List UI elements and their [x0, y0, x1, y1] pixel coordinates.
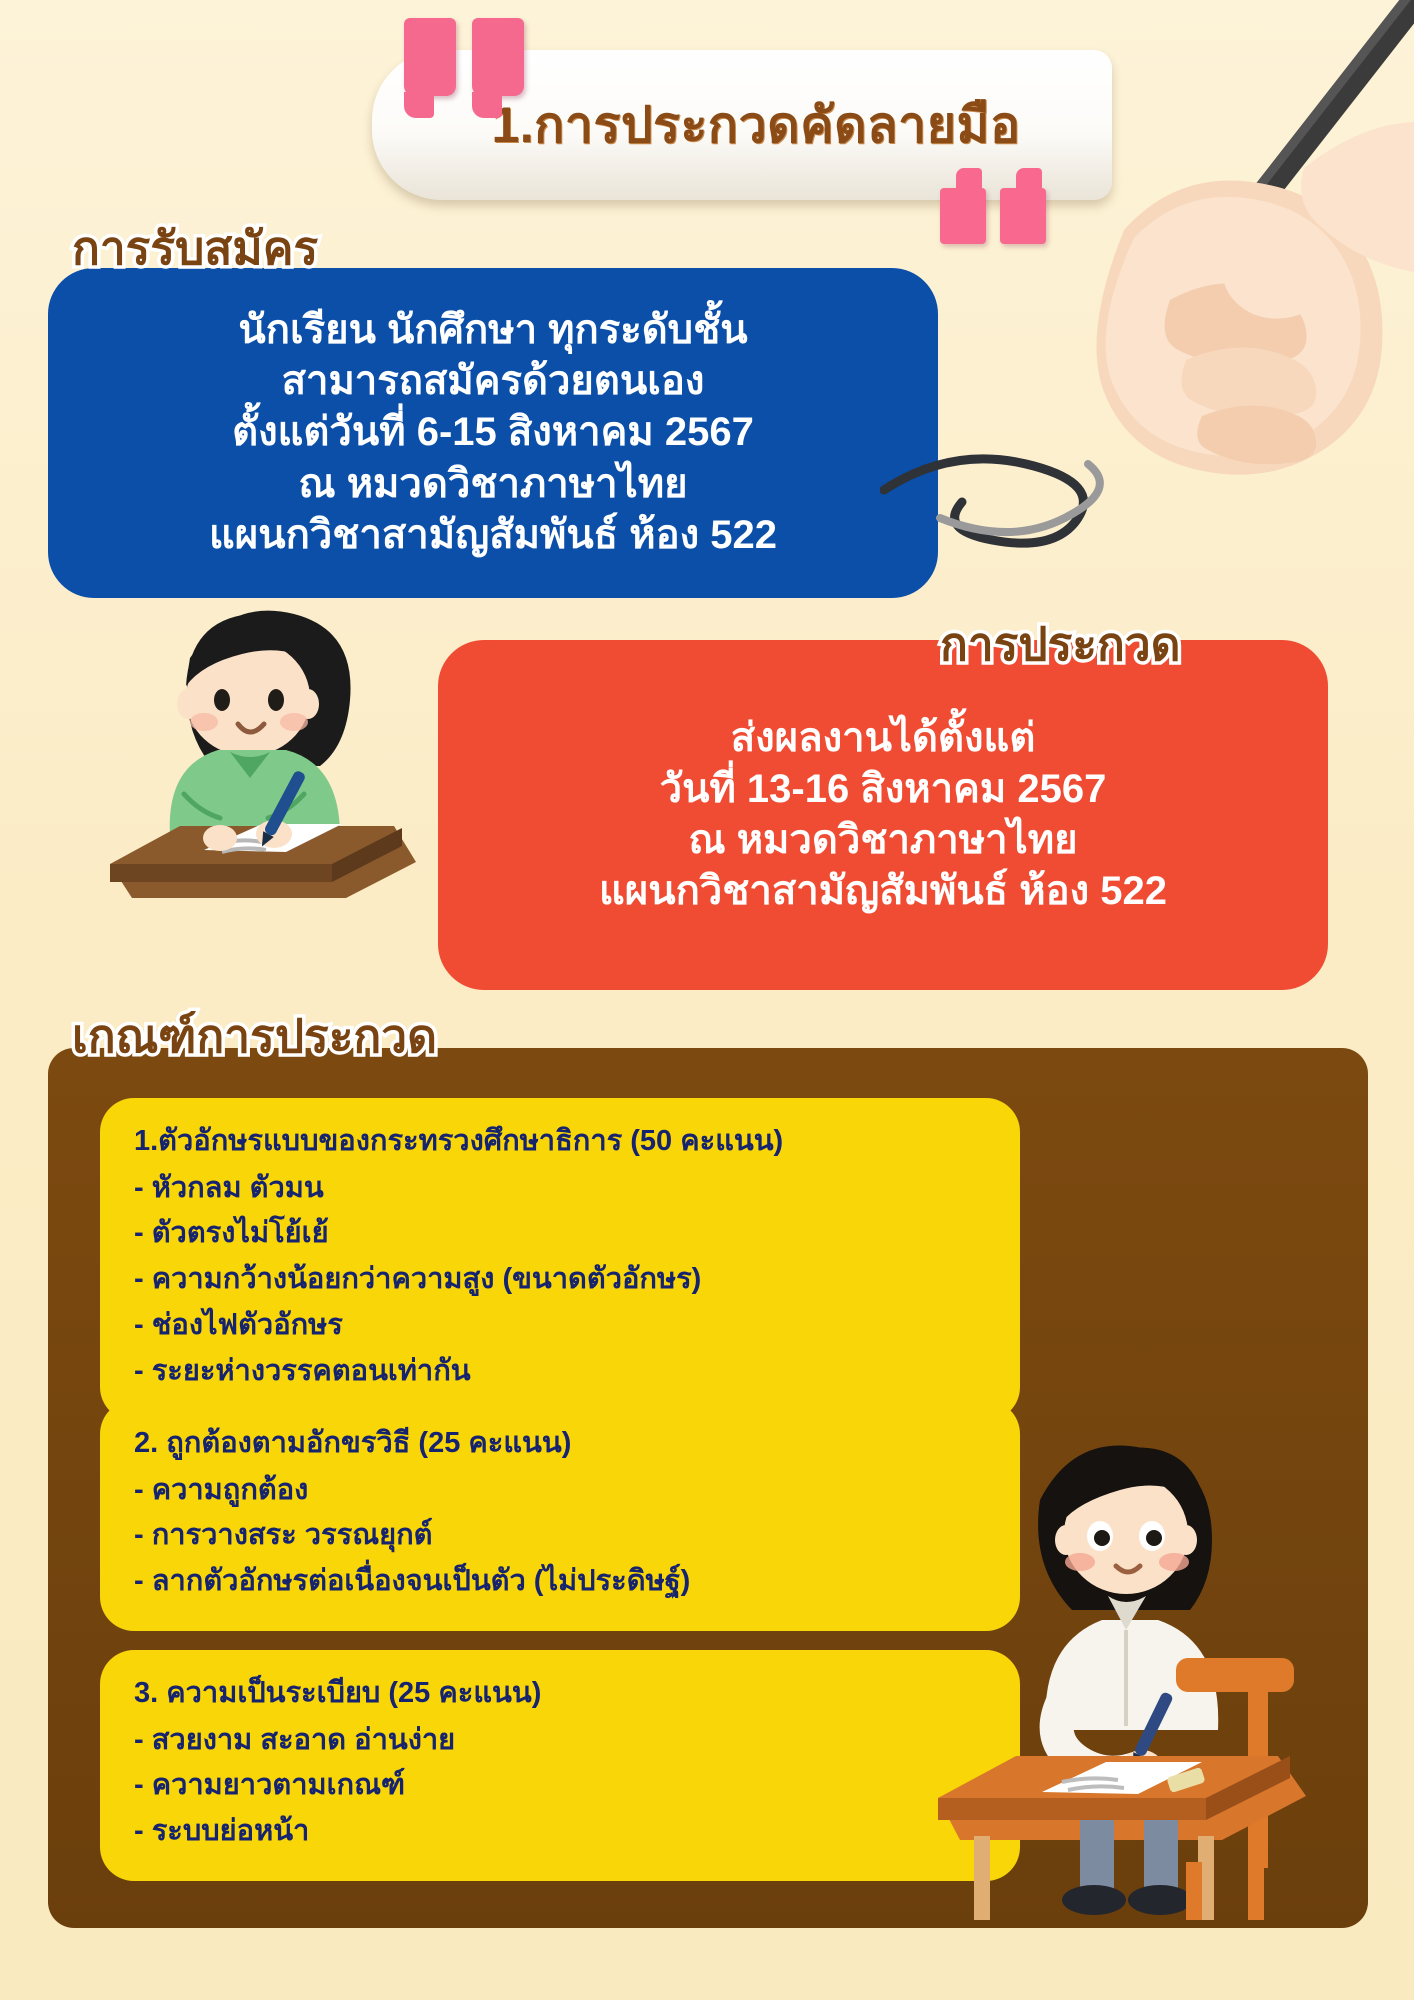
criteria-item: - ความถูกต้อง: [134, 1468, 986, 1514]
criteria-item: - ความยาวตามเกณฑ์: [134, 1763, 986, 1809]
criteria-item: - ความกว้างน้อยกว่าความสูง (ขนาดตัวอักษร…: [134, 1257, 986, 1303]
criteria-box: 1.ตัวอักษรแบบของกระทรวงศึกษาธิการ (50 คะ…: [100, 1098, 1020, 1421]
criteria-item: - ระบบย่อหน้า: [134, 1809, 986, 1855]
criteria-box: 3. ความเป็นระเบียบ (25 คะแนน) - สวยงาม ส…: [100, 1650, 1020, 1881]
registration-line: นักเรียน นักศึกษา ทุกระดับชั้น: [238, 305, 747, 356]
boy-writing-at-desk-icon: [98, 588, 428, 913]
criteria-box-title: 1.ตัวอักษรแบบของกระทรวงศึกษาธิการ (50 คะ…: [134, 1120, 986, 1164]
student-writing-at-desk-icon: [930, 1400, 1350, 1965]
criteria-box-title: 2. ถูกต้องตามอักขรวิธี (25 คะแนน): [134, 1422, 986, 1466]
contest-heading: การประกวด: [940, 608, 1181, 681]
quote-open-icon-left: [404, 18, 456, 96]
contest-line: ณ หมวดวิชาภาษาไทย: [688, 815, 1077, 866]
registration-line: สามารถสมัครด้วยตนเอง: [282, 356, 705, 407]
criteria-item: - การวางสระ วรรณยุกต์: [134, 1513, 986, 1559]
criteria-item: - ระยะห่างวรรคตอนเท่ากัน: [134, 1349, 986, 1395]
poster-root: 1.การประกวดคัดลายมือ การรับสมัคร นักเรีย…: [0, 0, 1414, 2000]
criteria-box: 2. ถูกต้องตามอักขรวิธี (25 คะแนน) - ความ…: [100, 1400, 1020, 1631]
registration-card: นักเรียน นักศึกษา ทุกระดับชั้น สามารถสมั…: [48, 268, 938, 598]
registration-line: ณ หมวดวิชาภาษาไทย: [298, 459, 687, 510]
criteria-item: - ตัวตรงไม่โย้เย้: [134, 1211, 986, 1257]
page-title: 1.การประกวดคัดลายมือ: [463, 86, 1020, 165]
contest-line: วันที่ 13-16 สิงหาคม 2567: [660, 764, 1107, 815]
contest-line: แผนกวิชาสามัญสัมพันธ์ ห้อง 522: [599, 866, 1167, 917]
registration-line: แผนกวิชาสามัญสัมพันธ์ ห้อง 522: [209, 510, 777, 561]
contest-card: ส่งผลงานได้ตั้งแต่ วันที่ 13-16 สิงหาคม …: [438, 640, 1328, 990]
ink-scribble-icon: [880, 440, 1180, 575]
criteria-heading: เกณฑ์การประกวด: [72, 1000, 437, 1073]
criteria-item: - ลากตัวอักษรต่อเนื่องจนเป็นตัว (ไม่ประด…: [134, 1559, 986, 1605]
criteria-item: - หัวกลม ตัวมน: [134, 1166, 986, 1212]
criteria-box-title: 3. ความเป็นระเบียบ (25 คะแนน): [134, 1672, 986, 1716]
contest-line: ส่งผลงานได้ตั้งแต่: [731, 713, 1036, 764]
criteria-item: - สวยงาม สะอาด อ่านง่าย: [134, 1718, 986, 1764]
quote-open-icon-right: [472, 18, 524, 96]
registration-heading: การรับสมัคร: [72, 212, 318, 285]
registration-line: ตั้งแต่วันที่ 6-15 สิงหาคม 2567: [232, 407, 754, 458]
criteria-item: - ช่องไฟตัวอักษร: [134, 1303, 986, 1349]
